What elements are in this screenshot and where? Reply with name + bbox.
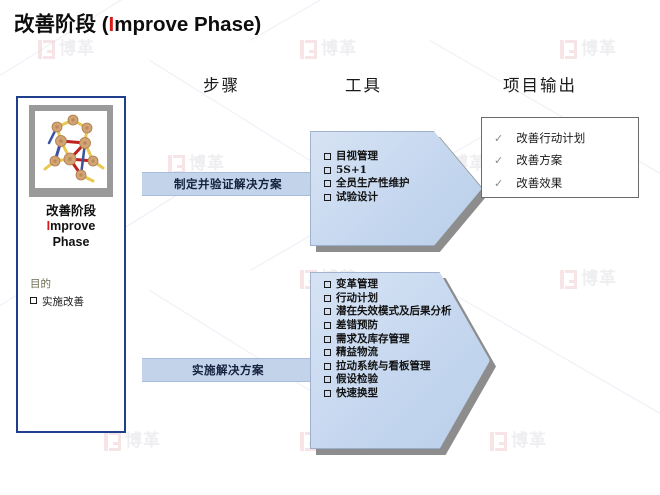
column-header-tools: 工具 [345, 72, 382, 96]
check-icon: ✓ [494, 150, 503, 171]
boge-logo-icon [560, 40, 577, 59]
slide-canvas: 博革 博革 博革 博革 博革 博革 博革 博革 [0, 0, 660, 495]
hairline [250, 0, 510, 41]
tool-label: 快速换型 [336, 387, 378, 401]
phase-panel: 改善阶段 Improve Phase 目的 实施改善 [16, 96, 126, 433]
tool-label: 拉动系统与看板管理 [336, 360, 431, 374]
tool-label: 假设检验 [336, 373, 378, 387]
tool-label: 行动计划 [336, 292, 378, 306]
phase-title-en-rest: mprove [50, 219, 95, 233]
checkbox-square-icon [324, 349, 331, 356]
check-icon: ✓ [494, 128, 503, 149]
tool-label: 目视管理 [336, 150, 378, 164]
boge-logo-icon [104, 432, 121, 451]
watermark-text: 博革 [321, 41, 357, 58]
project-output-box: ✓改善行动计划 ✓改善方案 ✓改善效果 [481, 117, 639, 198]
mechanism-illustration-icon [35, 111, 107, 188]
checkbox-square-icon [324, 376, 331, 383]
phase-title: 改善阶段 Improve Phase [18, 204, 124, 250]
watermark-text: 博革 [189, 156, 225, 173]
watermark-text: 博革 [511, 433, 547, 450]
tools-arrow-1[interactable]: 目视管理 5S+1 全员生产性维护 试验设计 [310, 131, 482, 246]
tool-label: 试验设计 [336, 191, 378, 205]
tool-label: 5S+1 [336, 164, 367, 178]
watermark: 博革 [490, 432, 547, 451]
step-band-1[interactable]: 制定并验证解决方案 [142, 172, 314, 196]
checkbox-square-icon [324, 363, 331, 370]
list-item: 变革管理 [324, 278, 456, 292]
step-band-2[interactable]: 实施解决方案 [142, 358, 314, 382]
phase-title-en-line1: Improve [18, 219, 124, 234]
page-title-cn: 改善阶段 ( [14, 13, 109, 36]
checkbox-square-icon [324, 308, 331, 315]
watermark: 博革 [300, 40, 357, 59]
output-list: ✓改善行动计划 ✓改善方案 ✓改善效果 [494, 127, 638, 194]
tool-label: 需求及库存管理 [336, 333, 410, 347]
watermark: 博革 [560, 40, 617, 59]
checkbox-square-icon [324, 390, 331, 397]
watermark-text: 博革 [125, 433, 161, 450]
boge-logo-icon [490, 432, 507, 451]
tool-label: 精益物流 [336, 346, 378, 360]
list-item: ✓改善方案 [494, 149, 638, 171]
phase-title-cn: 改善阶段 [18, 204, 124, 219]
page-title: 改善阶段 (Improve Phase) [14, 7, 261, 37]
boge-logo-icon [560, 270, 577, 289]
watermark-text: 博革 [59, 41, 95, 58]
list-item: 目视管理 [324, 150, 450, 164]
phase-image-frame [29, 105, 113, 197]
output-label: 改善效果 [516, 172, 562, 194]
phase-title-en-line2: Phase [18, 235, 124, 250]
checkbox-square-icon [324, 295, 331, 302]
page-title-en: mprove Phase) [114, 13, 261, 36]
list-item: ✓改善行动计划 [494, 127, 638, 149]
list-item: 需求及库存管理 [324, 333, 456, 347]
phase-image [35, 111, 107, 188]
checkbox-square-icon [324, 153, 331, 160]
checkbox-square-icon [324, 336, 331, 343]
checkbox-square-icon [324, 167, 331, 174]
output-label: 改善方案 [516, 149, 562, 171]
list-item: 行动计划 [324, 292, 456, 306]
list-item: 全员生产性维护 [324, 177, 450, 191]
list-item: 快速换型 [324, 387, 456, 401]
tool-label: 变革管理 [336, 278, 378, 292]
checkbox-square-icon [324, 194, 331, 201]
purpose-label: 目的 [30, 276, 51, 291]
list-item: 拉动系统与看板管理 [324, 360, 456, 374]
list-item: 精益物流 [324, 346, 456, 360]
tools-arrow-2[interactable]: 变革管理 行动计划 潜在失效模式及后果分析 差错预防 需求及库存管理 精益物流 … [310, 272, 490, 449]
checkbox-square-icon [30, 297, 37, 304]
watermark: 博革 [38, 40, 95, 59]
checkbox-square-icon [324, 322, 331, 329]
boge-logo-icon [300, 40, 317, 59]
list-item: ✓改善效果 [494, 172, 638, 194]
tool-label: 潜在失效模式及后果分析 [336, 305, 452, 319]
output-label: 改善行动计划 [516, 127, 585, 149]
column-header-steps: 步骤 [203, 72, 240, 96]
boge-logo-icon [38, 40, 55, 59]
tools-list-1: 目视管理 5S+1 全员生产性维护 试验设计 [324, 150, 450, 205]
purpose-item-label: 实施改善 [42, 294, 84, 309]
tool-label: 全员生产性维护 [336, 177, 410, 191]
column-header-output: 项目输出 [503, 72, 577, 96]
watermark: 博革 [560, 270, 617, 289]
checkbox-square-icon [324, 180, 331, 187]
check-icon: ✓ [494, 173, 503, 194]
list-item: 差错预防 [324, 319, 456, 333]
watermark: 博革 [104, 432, 161, 451]
list-item: 假设检验 [324, 373, 456, 387]
checkbox-square-icon [324, 281, 331, 288]
list-item: 潜在失效模式及后果分析 [324, 305, 456, 319]
purpose-item: 实施改善 [30, 294, 84, 309]
list-item: 试验设计 [324, 191, 450, 205]
tools-list-2: 变革管理 行动计划 潜在失效模式及后果分析 差错预防 需求及库存管理 精益物流 … [324, 278, 456, 401]
list-item: 5S+1 [324, 164, 450, 178]
watermark-text: 博革 [581, 271, 617, 288]
tool-label: 差错预防 [336, 319, 378, 333]
watermark-text: 博革 [581, 41, 617, 58]
